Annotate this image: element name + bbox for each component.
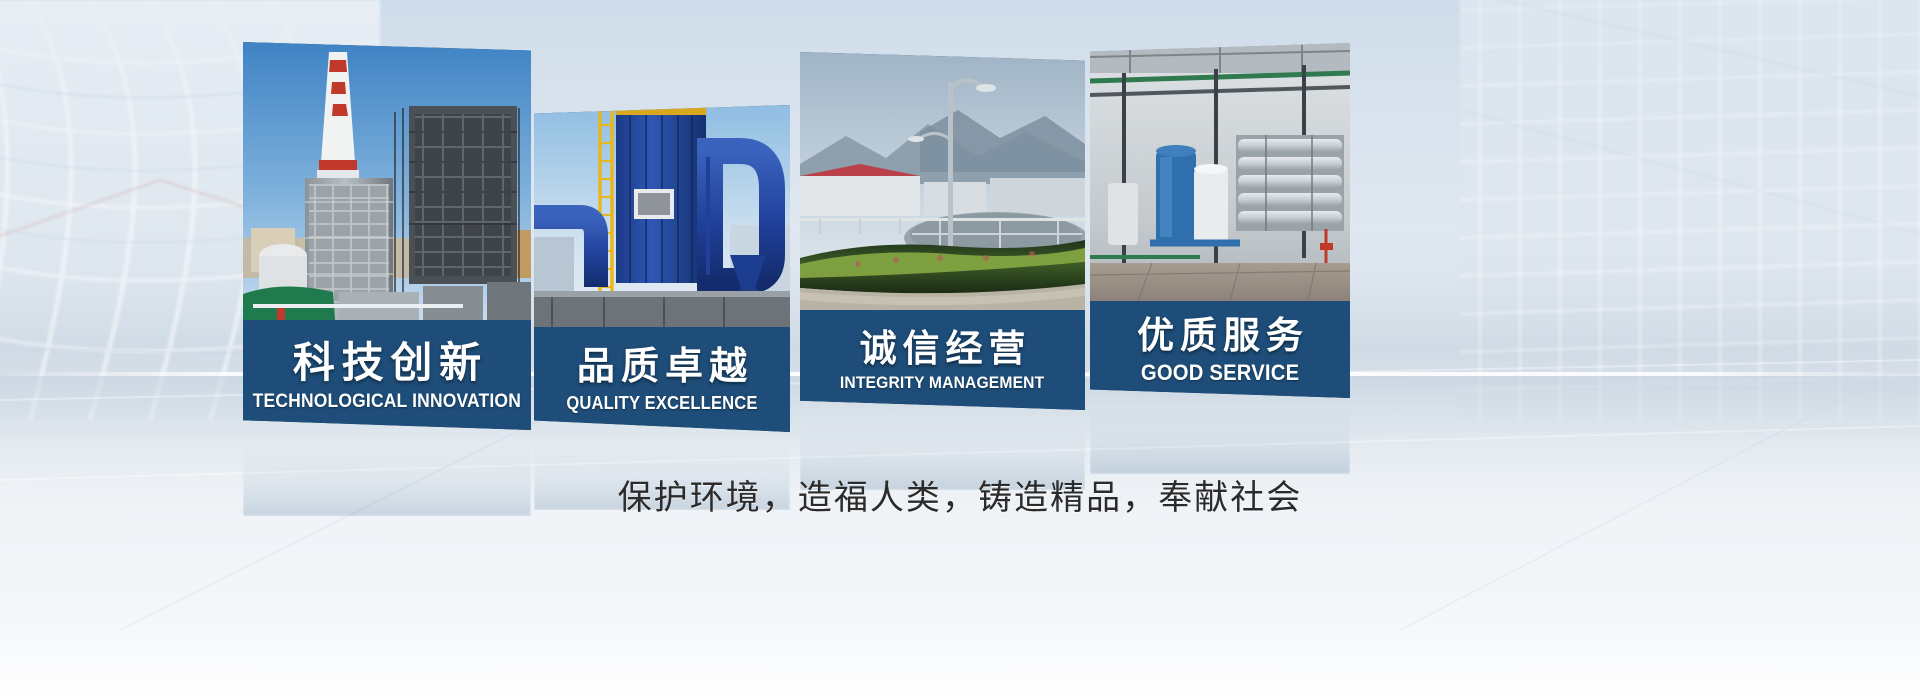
- banner-tagline: 保护环境，造福人类，铸造精品，奉献社会: [0, 470, 1920, 519]
- hero-banner: 科技创新 TECHNOLOGICAL INNOVATION: [0, 0, 1920, 700]
- panel-photo-1: [243, 42, 531, 320]
- panel-caption-1: 科技创新 TECHNOLOGICAL INNOVATION: [243, 320, 531, 430]
- panel-title-en-2: QUALITY EXCELLENCE: [566, 394, 757, 414]
- panel-title-cn-3: 诚信经营: [854, 329, 1032, 368]
- panel-caption-2: 品质卓越 QUALITY EXCELLENCE: [534, 327, 790, 432]
- feature-panel-integrity-management[interactable]: 诚信经营 INTEGRITY MANAGEMENT: [800, 52, 1085, 410]
- panel-caption-3: 诚信经营 INTEGRITY MANAGEMENT: [800, 310, 1085, 410]
- feature-panel-quality-excellence[interactable]: 品质卓越 QUALITY EXCELLENCE: [534, 105, 790, 432]
- panel-photo-4: [1090, 43, 1350, 301]
- feature-panel-technological-innovation[interactable]: 科技创新 TECHNOLOGICAL INNOVATION: [243, 42, 531, 430]
- panel-title-en-1: TECHNOLOGICAL INNOVATION: [253, 392, 521, 413]
- panel-title-en-3: INTEGRITY MANAGEMENT: [840, 374, 1044, 393]
- panel-photo-3: [800, 52, 1085, 310]
- panel-caption-4: 优质服务 GOOD SERVICE: [1090, 301, 1350, 398]
- panel-title-cn-4: 优质服务: [1131, 316, 1309, 355]
- panel-title-en-4: GOOD SERVICE: [1141, 361, 1299, 385]
- panel-title-cn-2: 品质卓越: [571, 347, 753, 387]
- panel-photo-2: [534, 105, 790, 327]
- panel-title-cn-1: 科技创新: [286, 341, 488, 386]
- panel-group: 科技创新 TECHNOLOGICAL INNOVATION: [0, 0, 1920, 700]
- feature-panel-good-service[interactable]: 优质服务 GOOD SERVICE: [1090, 43, 1350, 398]
